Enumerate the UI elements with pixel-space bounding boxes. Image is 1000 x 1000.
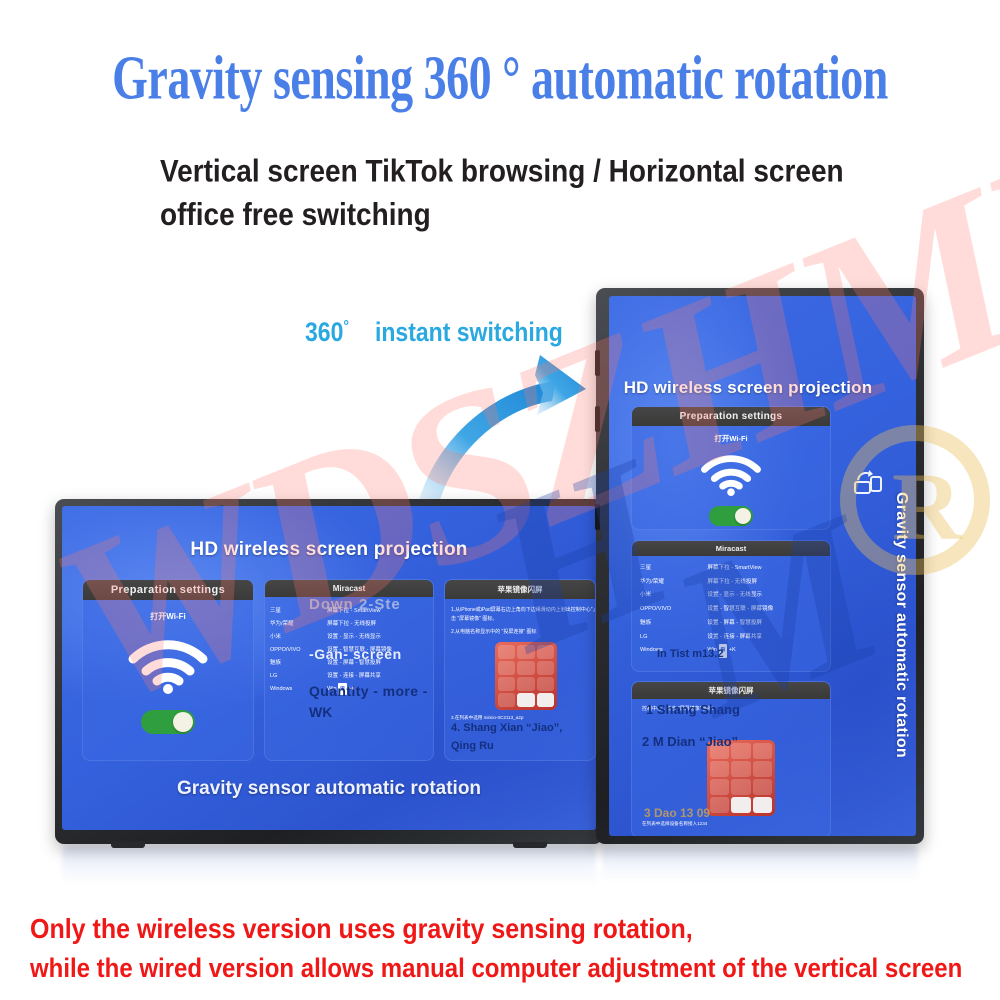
brand-name: 华为/荣耀: [640, 576, 707, 590]
horizontal-monitor: HD wireless screen projection Preparatio…: [55, 499, 603, 844]
screen-title-horizontal: HD wireless screen projection: [62, 539, 596, 561]
poster-canvas: Gravity sensing 360 ° automatic rotation…: [0, 0, 1000, 1000]
screen-title-vertical: HD wireless screen projection: [613, 378, 883, 398]
overlay-text-quantity: Quantity - more -: [309, 683, 428, 699]
brand-path: Win ⊞ +K: [707, 644, 831, 658]
wifi-toggle-h[interactable]: [141, 710, 195, 734]
brand-path: 设置 - 连接 - 屏幕共享: [327, 670, 434, 683]
instant-switching-label: 360°instant switching: [305, 316, 563, 348]
overlay-text-mdianjiao: 2 M Dian “Jiao”: [642, 734, 738, 749]
card-header-miracast-v: Miracast: [632, 541, 830, 556]
table-row: LG 设置 - 连接 - 屏幕共享: [270, 670, 434, 683]
card-apple-mirroring-h[interactable]: 苹果镜像闪屏 1.从iPhone或iPad屏幕右边上角向下边缘滑动内上划出控制中…: [444, 579, 596, 761]
card-header-preparation-v: Preparation settings: [632, 407, 830, 426]
footer-note-line1: Only the wireless version uses gravity s…: [30, 908, 990, 951]
monitor-reflection-horizontal: [62, 846, 596, 886]
monitor-foot-right: [513, 842, 547, 848]
brand-path: 屏幕下拉 - 无线投屏: [707, 576, 831, 590]
table-row: OPPO/VIVO 设置 - 智慧互联 - 屏幕镜像: [640, 603, 831, 617]
overlay-text-ganscreen: -Gan- screen: [309, 646, 402, 662]
brand-name: LG: [640, 631, 707, 645]
brand-name: 小米: [270, 631, 327, 644]
monitor-side-button-1[interactable]: [595, 350, 600, 376]
table-row: 小米 设置 - 显示 - 无线显示: [270, 631, 434, 644]
table-row: 华为/荣耀 屏幕下拉 - 无线投屏: [640, 576, 831, 590]
apple-step-v-2: 在列表中选择设备名称接入1234: [642, 820, 831, 828]
curved-rotation-arrow-icon: [400, 345, 620, 520]
brand-path: 屏幕下拉 - SmartView: [707, 562, 831, 576]
brand-path: 设置 - 显示 - 无线显示: [327, 631, 434, 644]
card-apple-mirroring-v[interactable]: 苹果镜像闪屏 控制中心", 点击 "屏幕镜像" 图标 在列表中选择设备名称接入1…: [631, 681, 831, 836]
brand-path: 设置 - 屏幕 - 智慧投屏: [707, 617, 831, 631]
table-row: 魅族 设置 - 屏幕 - 智慧投屏: [640, 617, 831, 631]
brand-path: 设置 - 显示 - 无线显示: [707, 589, 831, 603]
card-miracast-h[interactable]: Miracast 三星 屏幕下拉 - SmartView 华为/荣耀 屏幕下拉 …: [264, 579, 434, 761]
overlay-text-intist: In Tist m13.2: [657, 648, 723, 660]
overlay-text-down2ste: Down 2-Ste: [309, 596, 401, 613]
apple-step-2: 2.从电脑名称显示中的 "投屏连接" 图标: [451, 628, 596, 637]
brand-name: 魅族: [640, 617, 707, 631]
wifi-toggle-v[interactable]: [709, 506, 753, 526]
switching-text: instant switching: [375, 317, 563, 347]
app-grid-icon: [707, 740, 775, 816]
brand-path: 设置 - 智慧互联 - 屏幕镜像: [707, 603, 831, 617]
wifi-label-v: 打开Wi-Fi: [632, 433, 830, 444]
apple-footer-note: 3.在列表中选用 mimio-0C2113_a2p: [451, 714, 596, 722]
card-header-apple-h: 苹果镜像闪屏: [445, 580, 595, 599]
table-row: 三星 屏幕下拉 - SmartView: [640, 562, 831, 576]
overlay-text-shangshang: 1 Shang Shang: [646, 702, 740, 717]
wifi-label-h: 打开Wi-Fi: [83, 611, 253, 622]
app-grid-icon: [495, 642, 557, 710]
card-preparation-settings-v[interactable]: Preparation settings 打开Wi-Fi: [631, 406, 831, 530]
overlay-text-qingru: Qing Ru: [451, 740, 494, 752]
vertical-monitor-screen: HD wireless screen projection Preparatio…: [609, 296, 916, 836]
table-row: 小米 设置 - 显示 - 无线显示: [640, 589, 831, 603]
card-header-miracast-h: Miracast: [265, 580, 433, 597]
card-header-apple-v: 苹果镜像闪屏: [632, 682, 830, 699]
brand-name: 三星: [640, 562, 707, 576]
apple-step-1: 1.从iPhone或iPad屏幕右边上角向下边缘滑动内上划出控制中心",点击 "…: [451, 606, 596, 623]
screen-side-text-vertical: Gravity sensor automatic rotation: [874, 492, 910, 812]
brand-name: LG: [270, 670, 327, 683]
brand-name: 小米: [640, 589, 707, 603]
horizontal-monitor-screen: HD wireless screen projection Preparatio…: [62, 506, 596, 830]
monitor-foot-left: [111, 842, 145, 848]
page-subtitle: Vertical screen TikTok browsing / Horizo…: [160, 150, 880, 237]
table-row: LG 设置 - 连接 - 屏幕共享: [640, 631, 831, 645]
miracast-table-v: 三星 屏幕下拉 - SmartView 华为/荣耀 屏幕下拉 - 无线投屏 小米…: [640, 562, 831, 658]
page-title: Gravity sensing 360 ° automatic rotation: [0, 42, 1000, 114]
wifi-icon: [698, 452, 764, 496]
monitor-side-button-3[interactable]: [595, 504, 600, 530]
table-row: 华为/荣耀 屏幕下拉 - 无线投屏: [270, 618, 434, 631]
brand-name: 华为/荣耀: [270, 618, 327, 631]
degree-symbol: °: [343, 316, 349, 334]
wifi-icon: [125, 636, 211, 694]
monitor-reflection-vertical: [602, 846, 918, 882]
card-header-preparation-h: Preparation settings: [83, 580, 253, 600]
brand-name: OPPO/VIVO: [640, 603, 707, 617]
brand-path: 屏幕下拉 - 无线投屏: [327, 618, 434, 631]
brand-path: 设置 - 连接 - 屏幕共享: [707, 631, 831, 645]
overlay-text-shangxian: 4. Shang Xian “Jiao”,: [451, 722, 562, 734]
footer-note-line2: while the wired version allows manual co…: [30, 948, 990, 990]
screen-footer-horizontal: Gravity sensor automatic rotation: [62, 778, 596, 800]
card-preparation-settings-h[interactable]: Preparation settings 打开Wi-Fi 在: [82, 579, 254, 761]
switching-degrees: 360: [305, 317, 343, 347]
overlay-text-wk: WK: [309, 704, 332, 720]
overlay-text-dao1309: 3 Dao 13 09: [644, 806, 710, 820]
vertical-monitor: HD wireless screen projection Preparatio…: [596, 288, 924, 844]
monitor-side-button-2[interactable]: [595, 406, 600, 432]
